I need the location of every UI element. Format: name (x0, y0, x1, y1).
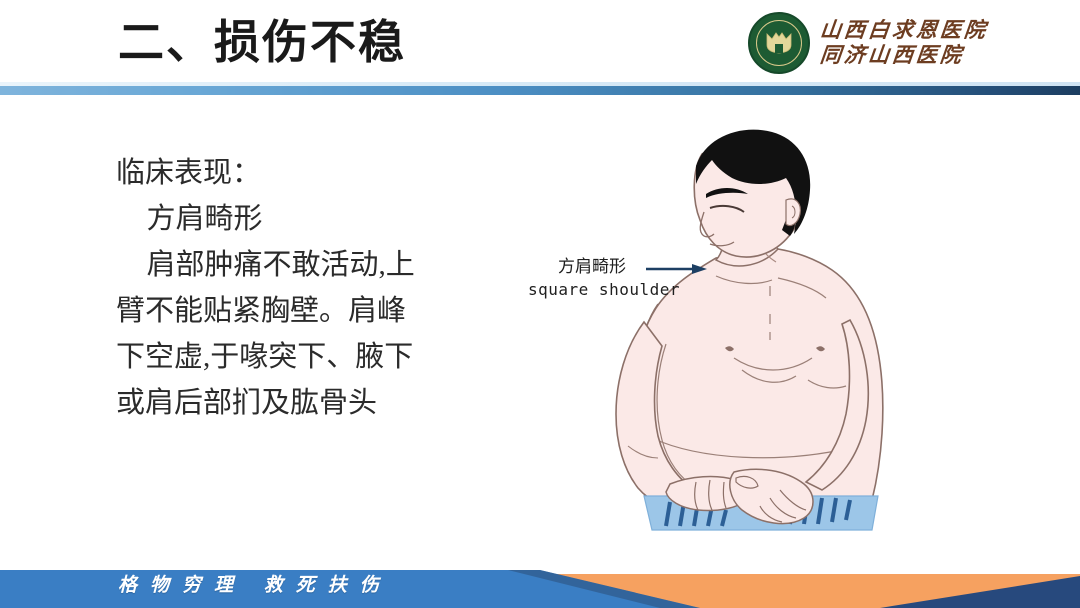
callout-arrow-icon (646, 263, 708, 275)
hospital-name-line1: 山西白求恩医院 (819, 19, 989, 43)
patient-figure-svg (520, 108, 960, 538)
finding-line-4: 下空虚,于喙突下、腋下 (116, 334, 476, 380)
hospital-emblem-icon (748, 12, 810, 74)
finding-line-2: 肩部肿痛不敢活动,上 (116, 242, 476, 288)
finding-line-3: 臂不能贴紧胸壁。肩峰 (116, 288, 476, 334)
header-divider-rule (0, 86, 1080, 95)
slide-footer: 格物穷理 救死扶伤 (0, 550, 1080, 608)
hospital-name-block: 山西白求恩医院 同济山西医院 (820, 18, 988, 67)
slide-root: 二、损伤不稳 山西白求恩医院 同济山西医院 临床表现： 方肩畸形 肩部肿痛不敢活… (0, 0, 1080, 608)
footer-motto: 格物穷理 救死扶伤 (118, 570, 392, 597)
page-title: 二、损伤不稳 (118, 14, 406, 72)
clinical-findings-text: 临床表现： 方肩畸形 肩部肿痛不敢活动,上 臂不能贴紧胸壁。肩峰 下空虚,于喙突… (116, 150, 476, 426)
hospital-name-line2: 同济山西医院 (819, 44, 989, 68)
finding-line-5: 或肩后部扪及肱骨头 (116, 380, 476, 426)
finding-line-1: 方肩畸形 (116, 196, 476, 242)
patient-illustration (520, 108, 960, 538)
crown-icon (764, 30, 794, 56)
hospital-logo: 山西白求恩医院 同济山西医院 (748, 6, 1074, 80)
clinical-findings-heading: 临床表现： (116, 150, 476, 196)
